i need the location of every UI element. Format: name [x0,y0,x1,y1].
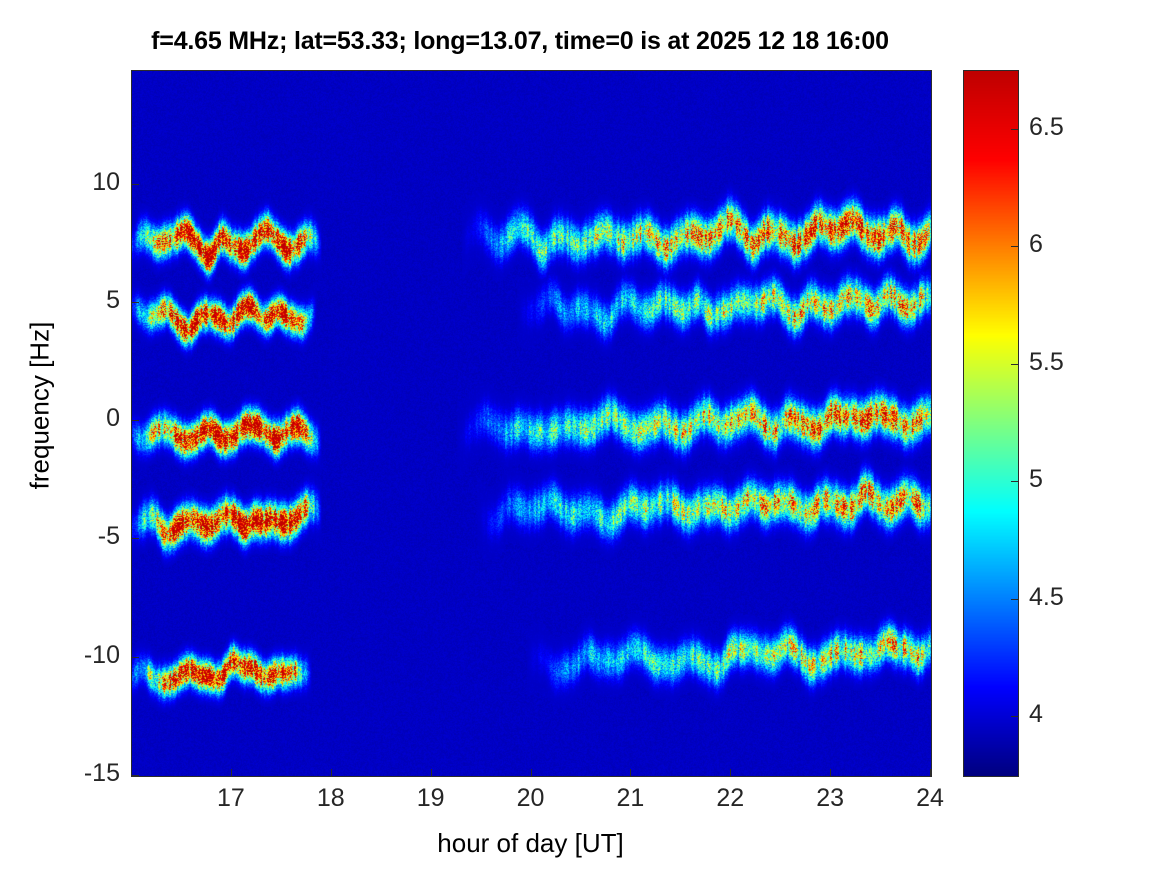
y-tick-mark [132,538,139,539]
x-tick-label: 23 [790,786,870,811]
colorbar-tick-mark [1011,246,1018,247]
y-tick-label: -10 [84,643,120,668]
x-tick-label: 24 [890,786,970,811]
y-axis-label: frequency [Hz] [25,256,56,556]
y-tick-label: 10 [92,170,120,195]
y-tick-label: -15 [84,761,120,786]
spectrogram-figure: f=4.65 MHz; lat=53.33; long=13.07, time=… [0,0,1167,875]
y-tick-label: -5 [98,524,120,549]
colorbar-tick-label: 6 [1029,232,1043,257]
y-tick-mark [132,184,139,185]
colorbar-tick-mark [1011,481,1018,482]
colorbar-tick-mark [1011,716,1018,717]
colorbar-tick-label: 4.5 [1029,585,1064,610]
x-tick-label: 18 [291,786,371,811]
colorbar-tick-mark [1011,364,1018,365]
x-tick-mark [730,769,731,776]
x-axis-label: hour of day [UT] [131,828,930,859]
colorbar [963,70,1019,777]
colorbar-tick-label: 5.5 [1029,350,1064,375]
x-tick-label: 22 [690,786,770,811]
y-tick-label: 5 [106,288,120,313]
y-tick-mark [132,302,139,303]
x-tick-mark [830,769,831,776]
colorbar-tick-label: 4 [1029,702,1043,727]
y-tick-mark [132,657,139,658]
y-tick-mark [132,420,139,421]
x-tick-mark [431,769,432,776]
x-tick-mark [531,769,532,776]
x-tick-mark [231,769,232,776]
x-tick-mark [930,769,931,776]
colorbar-tick-label: 5 [1029,467,1043,492]
x-tick-mark [331,769,332,776]
colorbar-tick-label: 6.5 [1029,115,1064,140]
colorbar-tick-mark [1011,599,1018,600]
x-tick-label: 20 [491,786,571,811]
page-title: f=4.65 MHz; lat=53.33; long=13.07, time=… [0,27,1040,56]
x-tick-label: 17 [191,786,271,811]
x-tick-label: 19 [391,786,471,811]
x-tick-mark [630,769,631,776]
colorbar-tick-mark [1011,129,1018,130]
colorbar-gradient [964,71,1018,776]
spectrogram-image [132,71,931,776]
y-tick-label: 0 [106,406,120,431]
x-tick-label: 21 [590,786,670,811]
y-tick-mark [132,775,139,776]
plot-axes [131,70,932,777]
